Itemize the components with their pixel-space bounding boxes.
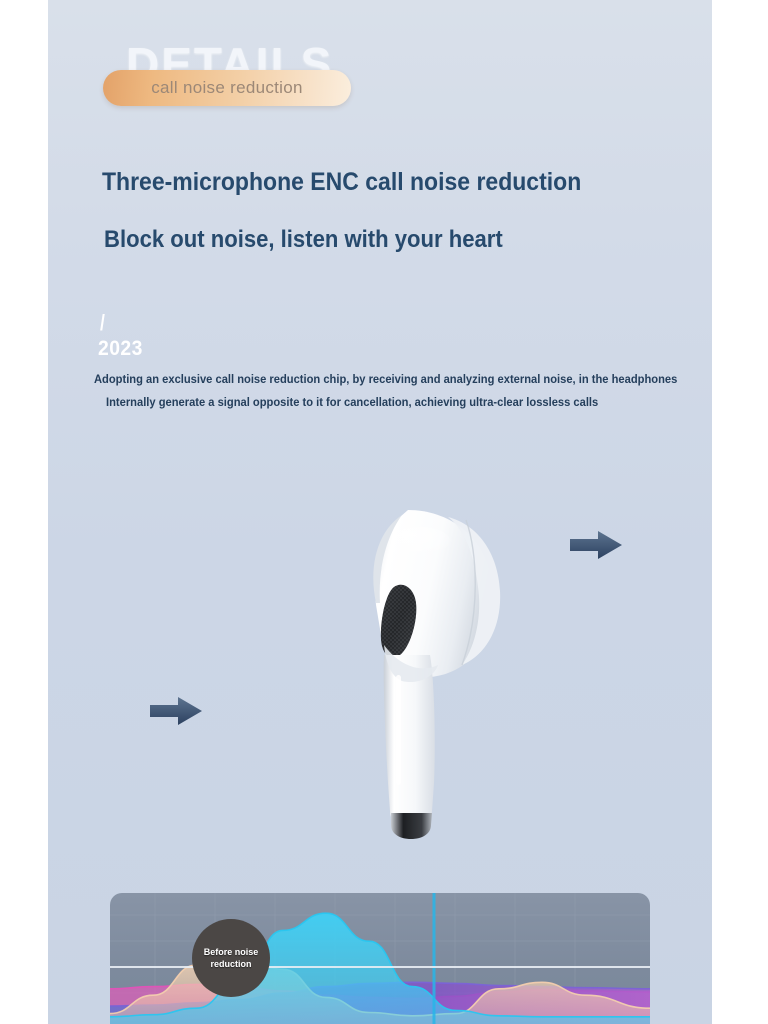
before-noise-reduction-chart: Before noise reduction [110, 893, 650, 1024]
description-line-1: Adopting an exclusive call noise reducti… [94, 374, 677, 386]
description-line-2: Internally generate a signal opposite to… [106, 397, 598, 409]
content-canvas: DETAILS call noise reduction Three-micro… [48, 0, 712, 1024]
section-tag-pill: call noise reduction [103, 70, 351, 106]
flow-arrow-right [568, 528, 624, 562]
product-detail-page: DETAILS call noise reduction Three-micro… [0, 0, 768, 1024]
badge-label-line2: reduction [210, 959, 251, 969]
chart-series-layer [110, 893, 650, 1024]
badge-label-line1: Before noise [204, 947, 259, 957]
flow-arrow-left [148, 694, 204, 728]
headline-primary: Three-microphone ENC call noise reductio… [102, 168, 581, 197]
wireless-earbud [298, 495, 518, 855]
before-noise-reduction-badge: Before noise reduction [192, 919, 270, 997]
headline-secondary: Block out noise, listen with your heart [104, 226, 503, 254]
section-tag-label: call noise reduction [103, 70, 351, 106]
badge-label: Before noise reduction [195, 946, 267, 970]
slash-mark: / [100, 310, 105, 336]
clean-output-waveform [528, 570, 712, 640]
year-label: 2023 [98, 337, 143, 361]
